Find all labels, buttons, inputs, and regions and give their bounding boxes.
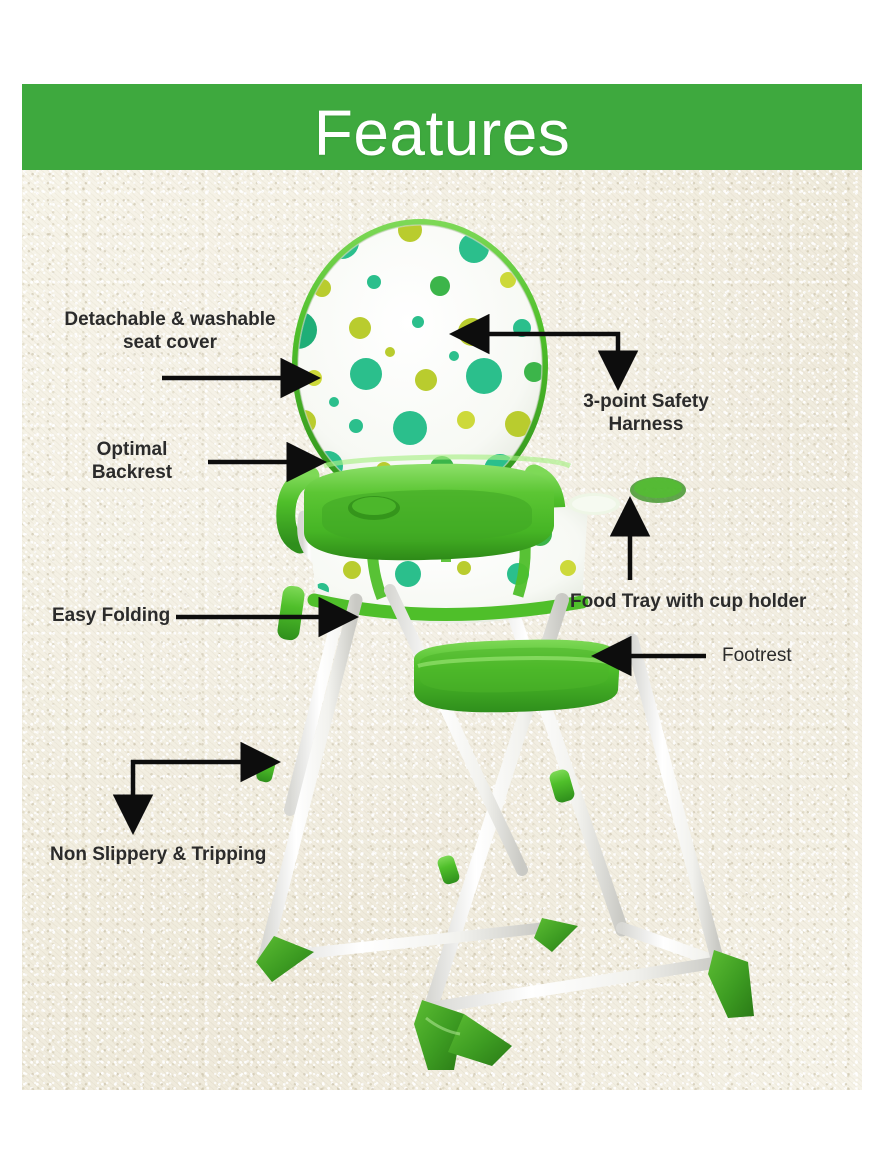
label-food-tray: Food Tray with cup holder [570,590,806,613]
label-easy-folding: Easy Folding [52,604,170,627]
label-seat-cover: Detachable & washable seat cover [50,308,290,354]
label-backrest: Optimal Backrest [62,438,202,484]
label-non-slip: Non Slippery & Tripping [50,843,266,866]
features-page: Features [0,0,884,1167]
label-footrest: Footrest [722,644,792,667]
label-safety-harness: 3-point Safety Harness [556,390,736,436]
